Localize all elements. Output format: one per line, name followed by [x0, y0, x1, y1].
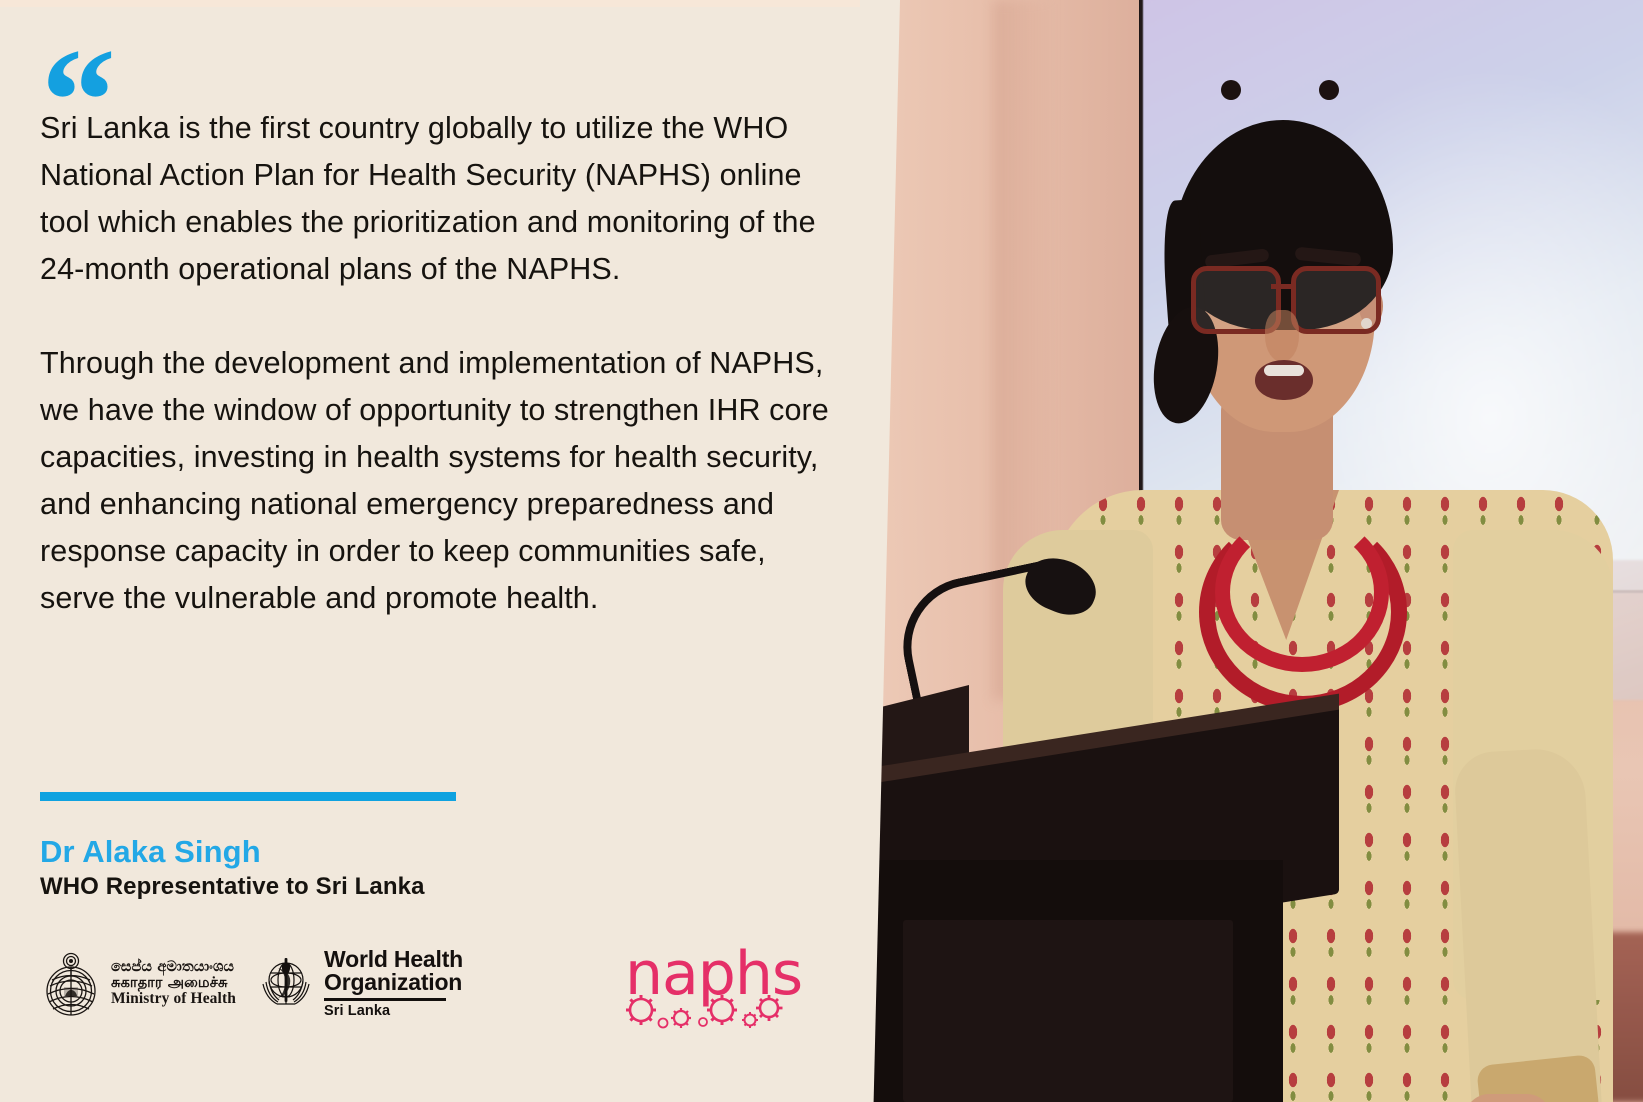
naphs-logo-wrap: naphs: [625, 944, 785, 1028]
quote-panel: “ Sri Lanka is the first country globall…: [0, 0, 860, 1102]
eye-left: [1221, 80, 1241, 100]
who-line-1: World Health: [324, 948, 463, 971]
ministry-of-health-english: Ministry of Health: [111, 991, 236, 1008]
mouth: [1255, 360, 1313, 400]
naphs-logo: naphs: [625, 944, 785, 1028]
eye-right: [1319, 80, 1339, 100]
who-text: World Health Organization Sri Lanka: [324, 948, 463, 1018]
podium-body: [863, 860, 1283, 1102]
ministry-of-health-text: සෙප්ය අමාත‍යාංශය சுகாதார அமைச்சு Ministr…: [111, 960, 236, 1008]
ministry-of-health-logo: සෙප්ය අමාත‍යාංශය சுகாதார அமைச்சு Ministr…: [40, 950, 236, 1018]
speaker-name: Dr Alaka Singh: [40, 834, 261, 870]
who-divider: [324, 998, 446, 1001]
sri-lanka-national-emblem-icon: [40, 950, 102, 1018]
quote-paragraph-2: Through the development and implementati…: [40, 340, 830, 622]
top-strip: [0, 0, 860, 7]
speaker-arm-right: [1453, 747, 1603, 1102]
quote-card: “ Sri Lanka is the first country globall…: [0, 0, 1643, 1102]
gears-icon: [619, 990, 791, 1030]
who-line-2: Organization: [324, 971, 463, 994]
quote-text: Sri Lanka is the first country globally …: [40, 105, 830, 622]
red-bead-necklace-inner: [1215, 512, 1389, 672]
who-emblem-icon: [257, 954, 315, 1012]
eyeglass-lens-right: [1291, 266, 1381, 334]
divider-rule: [40, 792, 456, 801]
eyeglass-bridge: [1271, 284, 1293, 289]
speaker-at-podium-photo: [843, 0, 1643, 1102]
speaker-title: WHO Representative to Sri Lanka: [40, 873, 425, 901]
who-logo: World Health Organization Sri Lanka: [257, 948, 463, 1018]
ministry-of-health-sinhala: සෙප්ය අමාත‍යාංශය: [111, 960, 236, 976]
nose: [1265, 310, 1299, 362]
who-country: Sri Lanka: [324, 1004, 463, 1019]
ministry-of-health-tamil: சுகாதார அமைச்சு: [111, 976, 236, 992]
logo-strip: සෙප්ය අමාත‍යාංශය சுகாதார அமைச்சு Ministr…: [40, 938, 820, 1038]
quote-paragraph-1: Sri Lanka is the first country globally …: [40, 105, 830, 293]
